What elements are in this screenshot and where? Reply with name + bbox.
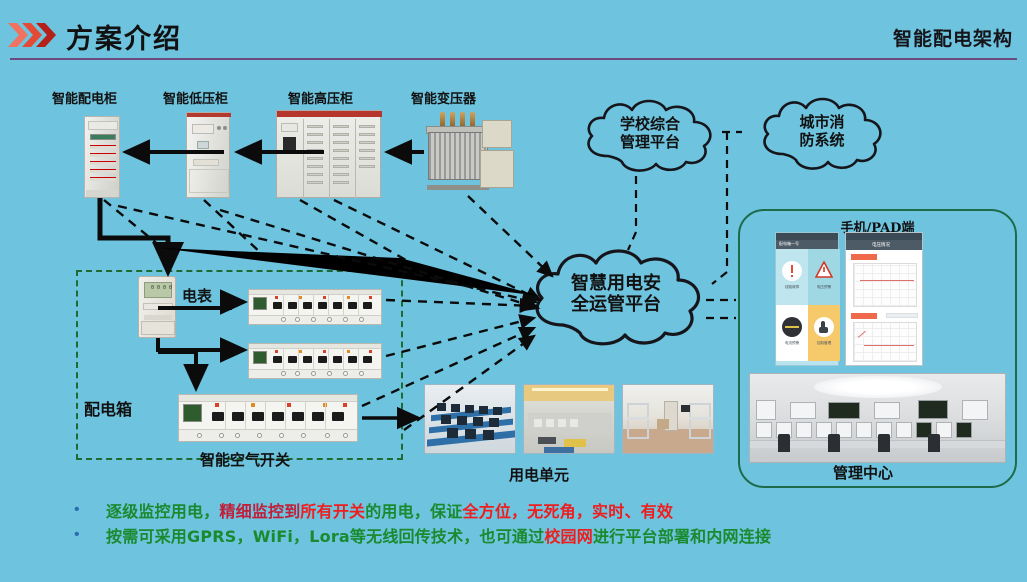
bullet-1-seg-3: 所有开关 [300,502,365,521]
bullet-marker-1: • [74,502,80,518]
bullet-text-1: 逐级监控用电，精细监控到所有开关的用电，保证全方位，无死角，实时、有效 [106,498,673,522]
bullet-list: • 逐级监控用电，精细监控到所有开关的用电，保证全方位，无死角，实时、有效 • … [60,498,1010,548]
bullet-1-seg-2: 精细监控到 [219,502,300,521]
bullet-2-seg-1: 按需可采用GPRS，WiFi，Lora等无线回传技术，也可通过 [106,527,544,546]
slide-canvas: 方案介绍 智能配电架构 智能配电柜 智能低压柜 智能高压柜 智能变压器 [0,0,1027,582]
bullet-text-2: 按需可采用GPRS，WiFi，Lora等无线回传技术，也可通过校园网进行平台部署… [106,523,771,547]
bullet-marker-2: • [74,527,80,543]
connector-overlay [0,0,1027,582]
bullet-2-seg-2: 校园网 [544,527,593,546]
bullet-row-1: • 逐级监控用电，精细监控到所有开关的用电，保证全方位，无死角，实时、有效 [60,498,1010,523]
bullet-row-2: • 按需可采用GPRS，WiFi，Lora等无线回传技术，也可通过校园网进行平台… [60,523,1010,548]
bullet-1-seg-1: 逐级监控用电， [106,502,219,521]
bullet-1-seg-4: 的用电，保证 [365,502,462,521]
bullet-2-seg-3: 进行平台部署和内网连接 [593,527,771,546]
bullet-1-seg-5: 全方位，无死角，实时、有效 [462,502,673,521]
